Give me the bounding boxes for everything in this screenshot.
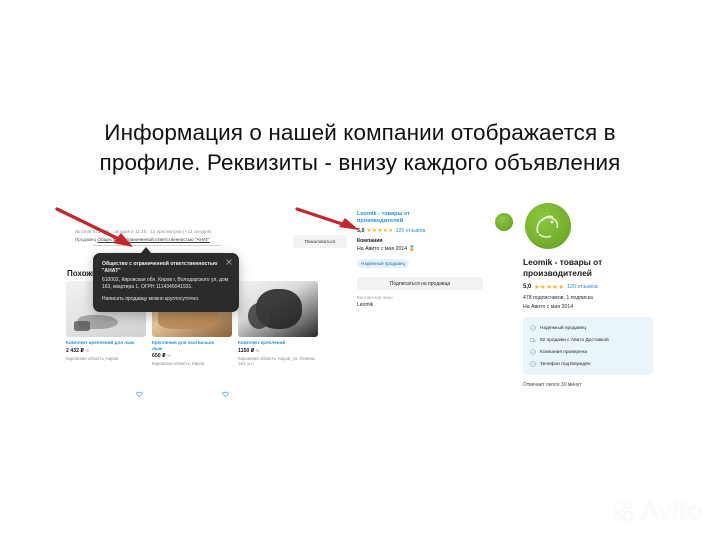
page-title: Информация о нашей компании отображается… <box>40 118 680 178</box>
star-rating-icon: ★★★★★ <box>367 228 394 234</box>
contact-person-value: Leomik <box>357 302 517 308</box>
member-since: На Авито с мая 2014 <box>523 304 663 310</box>
badge-label: Компания проверена <box>540 350 587 355</box>
company-logo <box>525 203 571 249</box>
status-badge: Надёжный продавец <box>357 259 409 268</box>
ad-page-panel: № 1648 4734/02 · сегодня в 11:45 · 12 пр… <box>57 203 323 413</box>
company-details-tooltip: Общество с ограниченной ответственностью… <box>93 253 239 312</box>
avito-logo-icon <box>612 499 636 523</box>
badge-label: Надёжный продавец <box>540 326 586 331</box>
embedded-screenshot: № 1648 4734/02 · сегодня в 11:45 · 12 пр… <box>57 203 663 413</box>
price-value: 1150 ₽ <box>238 348 254 354</box>
ad-seller-line: Продавец Общество с ограниченной ответст… <box>75 237 210 242</box>
seller-type-label: Компания <box>357 238 517 244</box>
tooltip-address: 610002, Кировская обл. Киров г, Володарс… <box>102 277 230 290</box>
list-item[interactable]: Комплект креплений 1150 ₽ ₪ Кировская об… <box>238 281 318 366</box>
avito-wordmark: Avito <box>640 495 702 526</box>
ad-seller-label: Продавец <box>75 237 96 242</box>
rating-value: 5,0 <box>357 228 365 234</box>
price-value: 650 ₽ <box>152 353 166 359</box>
badge-label: Телефон подтверждён <box>540 362 591 367</box>
tooltip-heading: Общество с ограниченной ответственностью… <box>102 261 230 274</box>
followers-count: 478 подписчиков, 1 подписка <box>523 295 663 301</box>
badge-label: 82 продажи с Авито Доставкой <box>540 338 609 343</box>
list-item: Компания проверена <box>523 346 653 358</box>
list-item: Надёжный продавец <box>523 322 653 334</box>
product-price: 650 ₽ ₪ <box>152 353 232 359</box>
product-location: Кировская область, Киров, ул. Ленина, 16… <box>238 356 318 366</box>
rating-value: 5,0 <box>523 284 531 290</box>
seller-since-label: На Авито с мая 2014 🏅 <box>357 246 517 252</box>
reviews-count-link[interactable]: 120 отзывов <box>567 284 598 290</box>
reviews-count-link[interactable]: 120 отзывов <box>396 228 426 234</box>
check-circle-icon <box>530 361 536 367</box>
avatar <box>495 213 513 231</box>
price-value: 2 432 ₽ <box>66 348 84 354</box>
report-button[interactable]: Пожаловаться <box>293 235 347 248</box>
headline-line-1: Информация о нашей компании отображается… <box>40 118 680 148</box>
ad-seller-link[interactable]: Общество с ограниченной ответственностью… <box>97 237 210 242</box>
favorite-icon[interactable] <box>136 391 143 398</box>
delivery-box-icon <box>530 337 536 343</box>
contact-person-label: Контактное лицо <box>357 295 517 300</box>
seller-info-block: Leomik - товары от производителей 5,0 ★★… <box>357 211 517 308</box>
animal-silhouette-icon <box>525 203 571 249</box>
product-image <box>238 281 318 337</box>
profile-rating-row: 5,0 ★★★★★ 120 отзывов <box>523 283 663 291</box>
product-title[interactable]: Комплект креплений <box>238 340 318 346</box>
check-circle-icon <box>530 325 536 331</box>
section-divider <box>93 245 221 246</box>
price-suffix: ₪ <box>86 348 90 353</box>
star-rating-icon: ★★★★★ <box>534 283 565 291</box>
list-item: 82 продажи с Авито Доставкой <box>523 334 653 346</box>
price-suffix: ₪ <box>256 348 260 353</box>
subscribe-button[interactable]: Подписаться на продавца <box>357 277 483 290</box>
trust-badge-list: Надёжный продавец 82 продажи с Авито Дос… <box>523 317 653 375</box>
profile-title: Leomik - товары от производителей <box>523 257 663 278</box>
profile-card: Leomik - товары от производителей 5,0 ★★… <box>523 203 663 388</box>
price-suffix: ₪ <box>167 353 171 358</box>
product-location: Кировская область, Киров <box>152 361 232 366</box>
product-title[interactable]: Крепления для охотничьих лыж <box>152 340 232 351</box>
product-title[interactable]: Комплект креплений для лыж <box>66 340 146 346</box>
product-price: 2 432 ₽ ₪ <box>66 348 146 354</box>
list-item: Телефон подтверждён <box>523 358 653 370</box>
seller-name-link[interactable]: Leomik - товары от производителей <box>357 211 435 225</box>
product-location: Кировская область, Киров <box>66 356 146 361</box>
close-icon[interactable] <box>226 259 232 265</box>
favorite-icon[interactable] <box>222 391 229 398</box>
avito-watermark: Avito <box>612 495 702 526</box>
check-circle-icon <box>530 349 536 355</box>
ad-meta-line: № 1648 4734/02 · сегодня в 11:45 · 12 пр… <box>75 229 315 234</box>
product-price: 1150 ₽ ₪ <box>238 348 318 354</box>
seller-rating-row: 5,0 ★★★★★ 120 отзывов <box>357 228 517 234</box>
headline-line-2: профиле. Реквизиты - внизу каждого объяв… <box>40 148 680 178</box>
reply-time-label: Отвечает около 30 минут <box>523 382 663 388</box>
tooltip-note: Написать продавцу можно круглосуточно. <box>102 296 230 303</box>
